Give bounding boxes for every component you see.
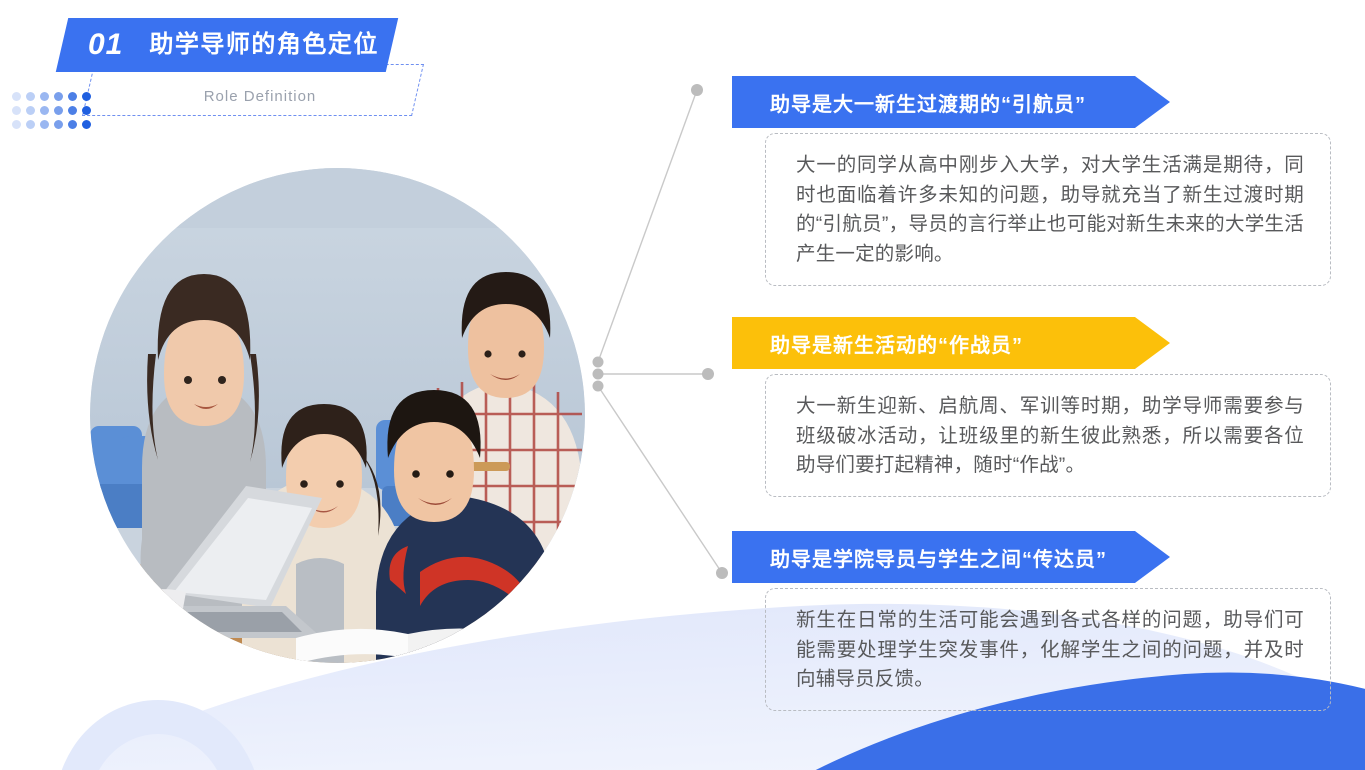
dot-grid-dot: [68, 120, 77, 129]
background-ring-decoration: [55, 700, 261, 770]
role-card-1-body: 大一的同学从高中刚步入大学，对大学生活满是期待，同时也面临着许多未知的问题，助导…: [765, 133, 1331, 286]
dot-grid-dot: [54, 106, 63, 115]
students-photo: [90, 168, 585, 663]
dot-grid-dot: [12, 92, 21, 101]
role-card-3[interactable]: 助导是学院导员与学生之间“传达员” 新生在日常的生活可能会遇到各式各样的问题，助…: [732, 531, 1331, 711]
dot-grid-dot: [68, 106, 77, 115]
role-card-2-heading: 助导是新生活动的“作战员”: [770, 329, 1023, 358]
dot-grid-dot: [54, 120, 63, 129]
role-card-2[interactable]: 助导是新生活动的“作战员” 大一新生迎新、启航周、军训等时期，助学导师需要参与班…: [732, 317, 1331, 497]
dot-grid-dot: [82, 120, 91, 129]
dot-grid-dot: [54, 92, 63, 101]
dot-grid-dot: [82, 106, 91, 115]
dot-grid-dot: [12, 106, 21, 115]
dot-grid-dot: [26, 106, 35, 115]
role-card-2-header[interactable]: 助导是新生活动的“作战员”: [732, 317, 1170, 369]
role-card-2-body: 大一新生迎新、启航周、军训等时期，助学导师需要参与班级破冰活动，让班级里的新生彼…: [765, 374, 1331, 497]
page-subtitle: Role Definition: [120, 88, 400, 105]
slide-title-area: 01 助学导师的角色定位 Role Definition: [0, 0, 470, 140]
role-card-1-header[interactable]: 助导是大一新生过渡期的“引航员”: [732, 76, 1170, 128]
page-title: 助学导师的角色定位: [149, 33, 379, 57]
role-card-3-text: 新生在日常的生活可能会遇到各式各样的问题，助导们可能需要处理学生突发事件，化解学…: [796, 606, 1304, 695]
role-card-3-header[interactable]: 助导是学院导员与学生之间“传达员”: [732, 531, 1170, 583]
role-card-1-heading: 助导是大一新生过渡期的“引航员”: [770, 88, 1086, 117]
dot-grid-dot: [82, 92, 91, 101]
role-card-3-heading: 助导是学院导员与学生之间“传达员”: [770, 543, 1107, 572]
role-card-3-body: 新生在日常的生活可能会遇到各式各样的问题，助导们可能需要处理学生突发事件，化解学…: [765, 588, 1331, 711]
dot-grid-dot: [40, 106, 49, 115]
role-card-1[interactable]: 助导是大一新生过渡期的“引航员” 大一的同学从高中刚步入大学，对大学生活满是期待…: [732, 76, 1331, 286]
role-card-1-text: 大一的同学从高中刚步入大学，对大学生活满是期待，同时也面临着许多未知的问题，助导…: [796, 151, 1304, 270]
role-card-2-text: 大一新生迎新、启航周、军训等时期，助学导师需要参与班级破冰活动，让班级里的新生彼…: [796, 392, 1304, 481]
dot-grid-dot: [40, 92, 49, 101]
section-number: 01: [88, 30, 123, 60]
dot-grid-dot: [26, 92, 35, 101]
dot-grid-dot: [40, 120, 49, 129]
dot-grid-dot: [26, 120, 35, 129]
dot-grid-dot: [12, 120, 21, 129]
slide-root: 01 助学导师的角色定位 Role Definition: [0, 0, 1365, 770]
students-photo-illustration: [90, 168, 585, 663]
title-banner: 01 助学导师的角色定位: [56, 18, 398, 72]
dot-grid-decoration: [12, 92, 96, 134]
dot-grid-dot: [68, 92, 77, 101]
